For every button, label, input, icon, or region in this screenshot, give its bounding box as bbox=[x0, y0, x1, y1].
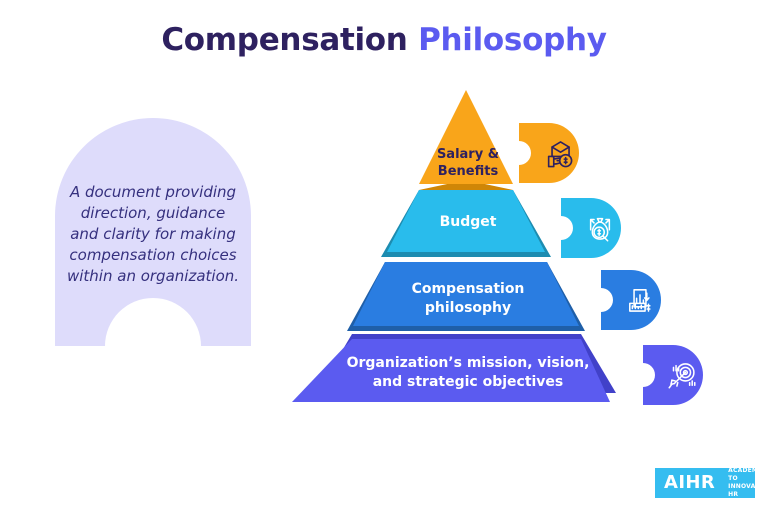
pyramid-layer-2-label: Budget bbox=[286, 214, 650, 231]
pyramid-layer-organization-mission[interactable]: Organization’s mission, vision, and stra… bbox=[286, 330, 650, 408]
page-title-part-one: Compensation bbox=[161, 22, 418, 58]
aihr-logo-tagline-line2: INNOVATE HR bbox=[728, 483, 763, 499]
aihr-logo[interactable]: AIHR ACADEMY TO INNOVATE HR bbox=[655, 468, 755, 498]
pyramid-layer-3-label-line2: philosophy bbox=[286, 299, 650, 318]
aihr-logo-tagline: ACADEMY TO INNOVATE HR bbox=[728, 467, 763, 499]
aihr-logo-mark: AIHR bbox=[655, 474, 715, 492]
infographic-canvas: Compensation Philosophy A document provi… bbox=[0, 0, 768, 510]
pyramid-layer-4-label: Organization’s mission, vision, and stra… bbox=[286, 354, 650, 392]
pyramid-layer-3-label: Compensation philosophy bbox=[286, 280, 650, 318]
pyramid-layer-4-label-line2: and strategic objectives bbox=[286, 373, 650, 392]
pyramid-layer-3-label-line1: Compensation bbox=[286, 280, 650, 299]
definition-text: A document providing direction, guidance… bbox=[65, 182, 241, 287]
page-title-part-two: Philosophy bbox=[418, 22, 607, 58]
pyramid-layer-2-label-line1: Budget bbox=[286, 214, 650, 231]
page-title: Compensation Philosophy bbox=[0, 18, 768, 62]
pyramid-layer-1-label-line2: Benefits bbox=[286, 163, 650, 180]
definition-card: A document providing direction, guidance… bbox=[55, 118, 251, 346]
pyramid-layer-1-label: Salary & Benefits bbox=[286, 146, 650, 180]
badge-organization-mission[interactable] bbox=[643, 345, 703, 405]
aihr-logo-tagline-line1: ACADEMY TO bbox=[728, 467, 763, 483]
target-arrow-icon bbox=[665, 358, 699, 392]
pyramid-layer-salary-benefits[interactable]: Salary & Benefits bbox=[286, 84, 650, 192]
pyramid-layer-compensation-philosophy[interactable]: Compensation philosophy bbox=[286, 256, 650, 338]
pyramid-layer-1-label-line1: Salary & bbox=[286, 146, 650, 163]
pyramid-layer-4-label-line1: Organization’s mission, vision, bbox=[286, 354, 650, 373]
